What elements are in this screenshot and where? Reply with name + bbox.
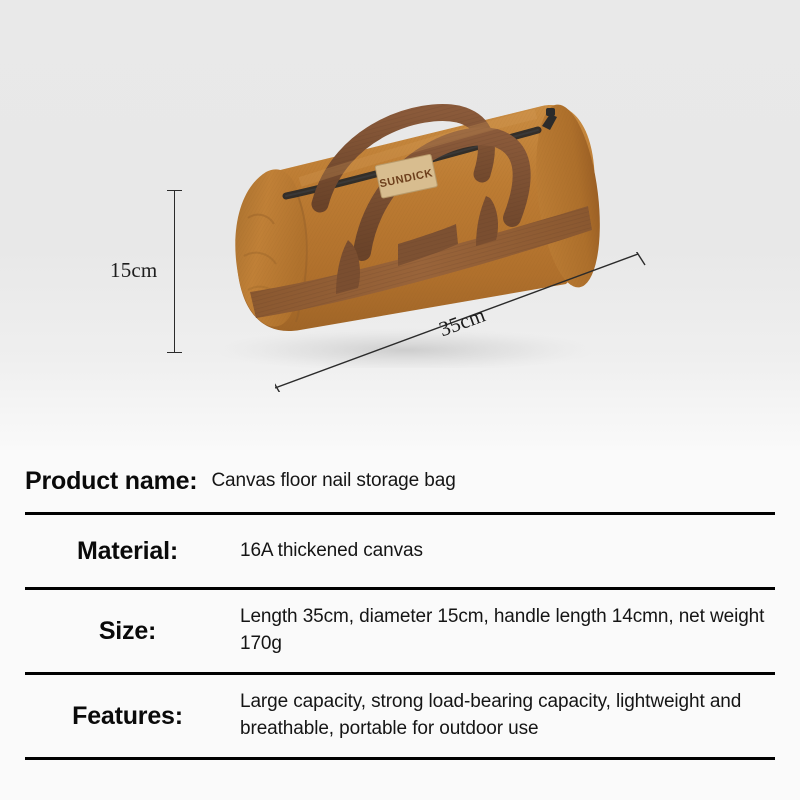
table-row-size: Size: Length 35cm, diameter 15cm, handle… [25,590,775,672]
canvas-tool-bag-image: SUNDICK [190,78,610,368]
row-value-features: Large capacity, strong load-bearing capa… [240,689,775,743]
bag-illustration: SUNDICK [190,78,610,368]
dimension-cap-end [631,252,645,265]
row-value-size: Length 35cm, diameter 15cm, handle lengt… [240,604,775,658]
table-row-features: Features: Large capacity, strong load-be… [25,675,775,757]
table-row-product-name: Product name: Canvas floor nail storage … [25,450,775,512]
dimension-line-height [174,190,175,353]
row-label-features: Features: [25,702,240,731]
row-label-size: Size: [25,617,240,646]
dimension-cap-start [275,376,284,392]
dimension-cap-bottom [167,352,182,353]
row-value-product-name: Canvas floor nail storage bag [211,468,775,495]
dimension-cap-top [167,190,182,191]
specification-table: Product name: Canvas floor nail storage … [0,450,800,800]
product-photo-area: SUNDICK 15cm 35cm [0,0,800,450]
row-label-product-name: Product name: [25,467,211,496]
row-label-material: Material: [25,537,240,566]
table-row-material: Material: 16A thickened canvas [25,515,775,587]
bag-shadow [215,328,595,368]
row-value-material: 16A thickened canvas [240,538,775,565]
table-divider-4 [25,757,775,760]
product-spec-page: SUNDICK 15cm 35cm Product name: Canvas f… [0,0,800,800]
dimension-label-height: 15cm [110,258,157,283]
